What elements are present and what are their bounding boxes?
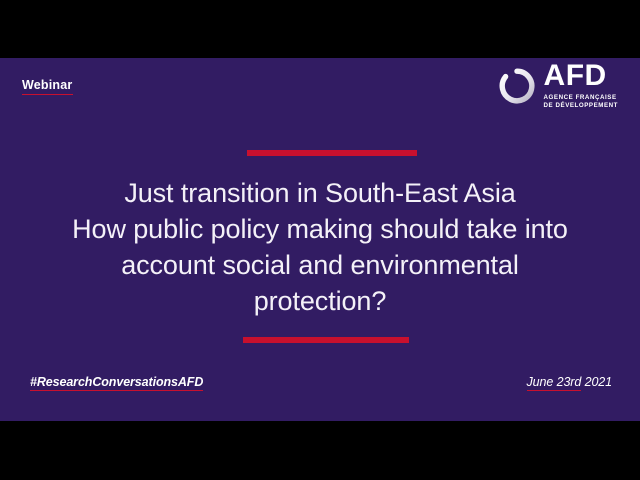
title-line-3: account social and environmental [14,248,626,284]
afd-wordmark: AFD AGENCE FRANÇAISE DE DÉVELOPPEMENT [544,62,618,110]
slide-title: Just transition in South-East Asia How p… [0,176,640,320]
letterbox-top [0,0,640,58]
accent-rule-bottom [243,337,409,343]
afd-tagline-line1: AGENCE FRANÇAISE [544,94,618,102]
event-date: June 23rd 2021 [527,375,612,389]
event-date-main: June 23rd [527,375,582,391]
slide-content: Webinar AFD AGENCE FRANÇAISE DE DÉVELOPP… [0,58,640,421]
afd-logo: AFD AGENCE FRANÇAISE DE DÉVELOPPEMENT [499,62,618,110]
video-slide: Webinar AFD AGENCE FRANÇAISE DE DÉVELOPP… [0,0,640,480]
title-line-2: How public policy making should take int… [14,212,626,248]
afd-tagline: AGENCE FRANÇAISE DE DÉVELOPPEMENT [544,94,618,111]
event-date-year: 2021 [581,375,612,389]
webinar-badge: Webinar [22,78,73,95]
afd-tagline-line2: DE DÉVELOPPEMENT [544,102,618,110]
afd-ring-icon [499,68,535,104]
afd-letters: AFD [544,62,607,91]
event-hashtag: #ResearchConversationsAFD [30,375,203,391]
title-line-4: protection? [14,284,626,320]
title-line-1: Just transition in South-East Asia [14,176,626,212]
letterbox-bottom [0,421,640,480]
accent-rule-top [247,150,417,156]
